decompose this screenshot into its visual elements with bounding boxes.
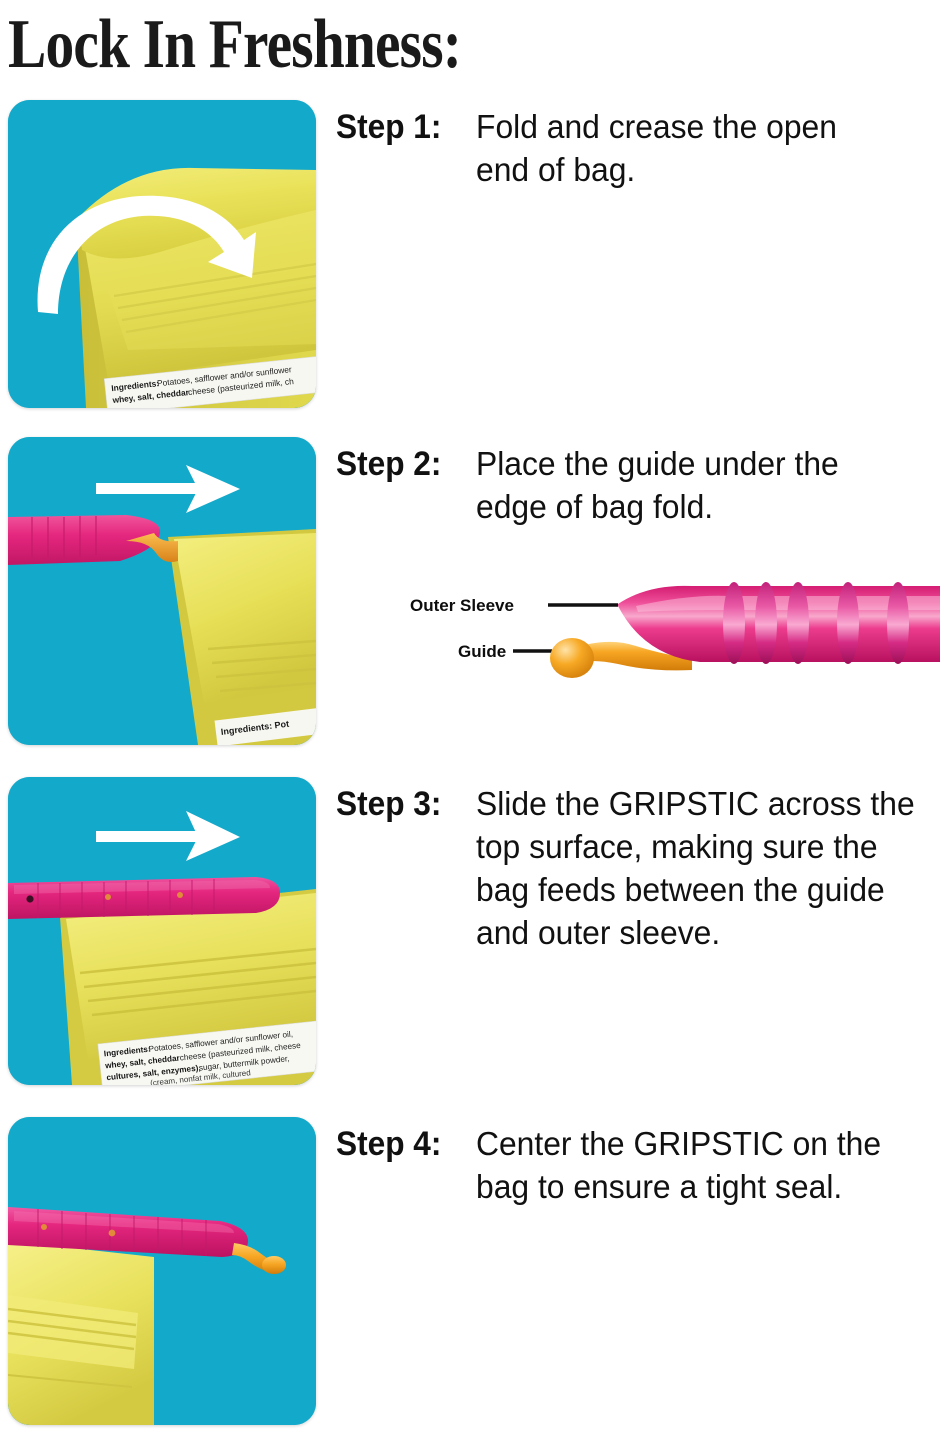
step-4-body: Center the GRIPSTIC on the bag to ensure… xyxy=(476,1123,913,1209)
step-row-3: Ingredients: Potatoes, safflower and/or … xyxy=(0,777,940,1099)
slide-gripstic-illustration: Ingredients: Potatoes, safflower and/or … xyxy=(8,777,316,1085)
step-row-2: Ingredients: Pot Step 2: Place the guide… xyxy=(0,437,940,757)
step-row-4: Step 4: Center the GRIPSTIC on the bag t… xyxy=(0,1117,940,1437)
step-1-text: Step 1: Fold and crease the open end of … xyxy=(336,106,936,192)
step-2-label: Step 2: xyxy=(336,443,466,486)
outer-sleeve-label: Outer Sleeve xyxy=(410,596,514,615)
step-row-1: Ingredients: Potatoes, safflower and/or … xyxy=(0,100,940,420)
step-4-photo-panel xyxy=(8,1117,316,1425)
step-3-label: Step 3: xyxy=(336,783,466,826)
step-3-body: Slide the GRIPSTIC across the top surfac… xyxy=(476,783,915,955)
step-2-photo-panel: Ingredients: Pot xyxy=(8,437,316,745)
gripstic-parts-callout: Outer Sleeve Guide xyxy=(400,572,940,682)
step-3-photo-panel: Ingredients: Potatoes, safflower and/or … xyxy=(8,777,316,1085)
guide-label: Guide xyxy=(458,642,506,661)
step-2-body: Place the guide under the edge of bag fo… xyxy=(476,443,913,529)
page-title: Lock In Freshness: xyxy=(8,6,582,84)
step-3-text: Step 3: Slide the GRIPSTIC across the to… xyxy=(336,783,936,955)
step-1-body: Fold and crease the open end of bag. xyxy=(476,106,913,192)
fold-bag-illustration: Ingredients: Potatoes, safflower and/or … xyxy=(8,100,316,408)
centered-gripstic-illustration xyxy=(8,1117,316,1425)
guide-ball-tip xyxy=(262,1256,286,1274)
guide-ball-tip xyxy=(550,638,594,678)
step-4-text: Step 4: Center the GRIPSTIC on the bag t… xyxy=(336,1123,936,1209)
gripstic-parts-diagram: Outer Sleeve Guide xyxy=(400,572,940,682)
step-1-label: Step 1: xyxy=(336,106,466,149)
place-guide-illustration: Ingredients: Pot xyxy=(8,437,316,745)
step-1-photo-panel: Ingredients: Potatoes, safflower and/or … xyxy=(8,100,316,408)
step-4-label: Step 4: xyxy=(336,1123,466,1166)
step-2-text: Step 2: Place the guide under the edge o… xyxy=(336,443,936,529)
